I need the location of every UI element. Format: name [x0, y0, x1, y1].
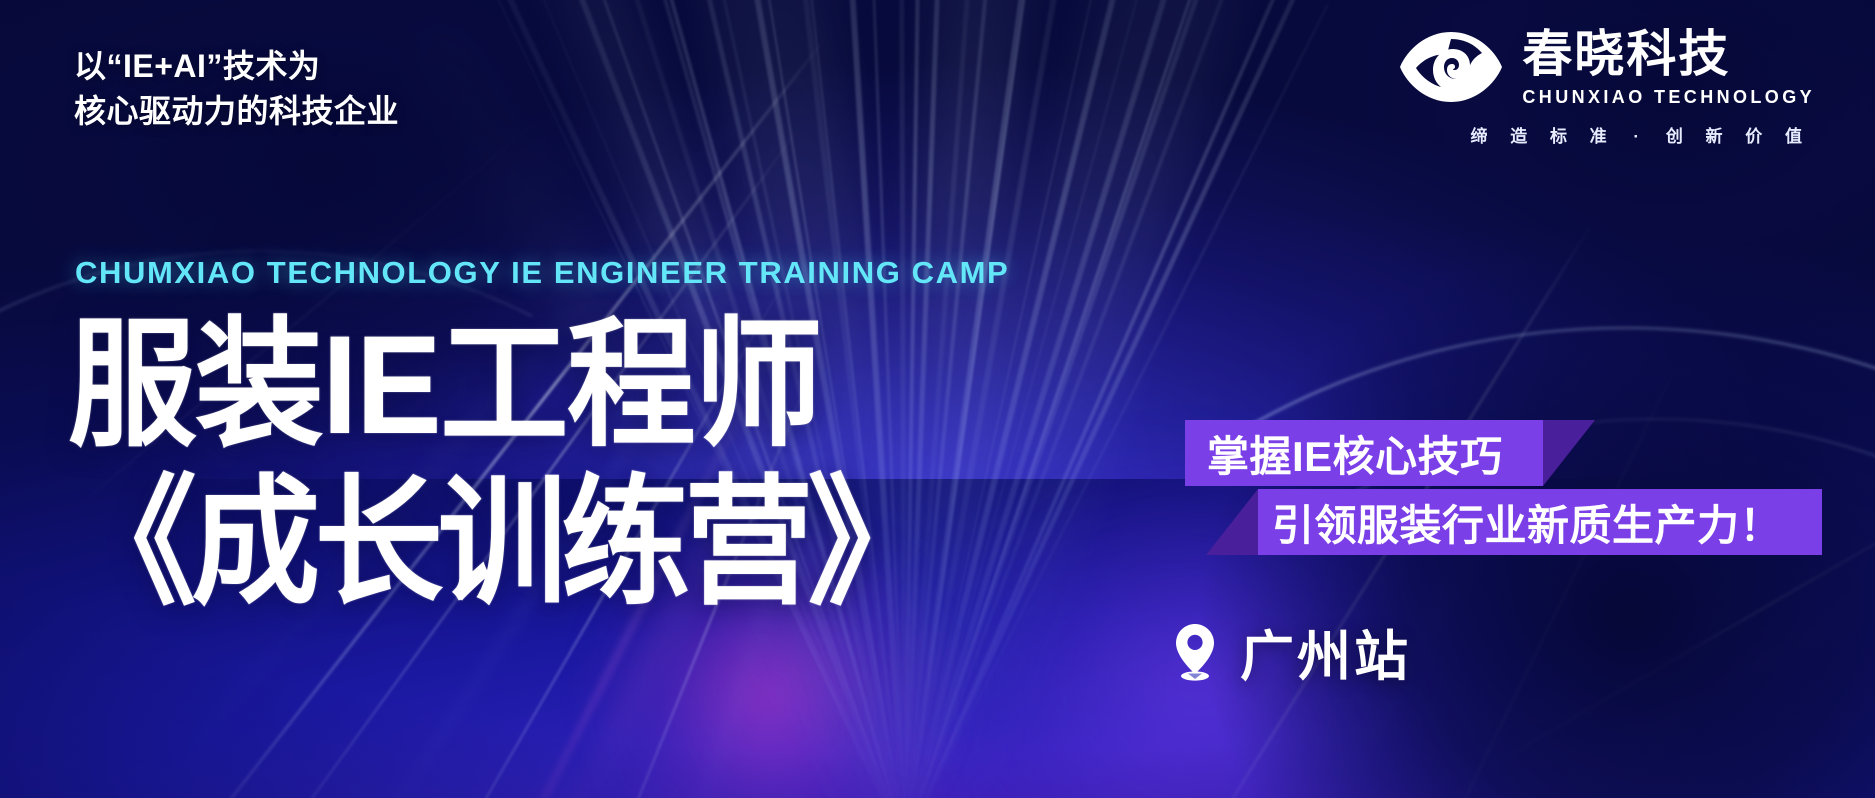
- headline-line-1: 服装IE工程师: [68, 318, 931, 452]
- logo-name-en: CHUNXIAO TECHNOLOGY: [1522, 88, 1815, 106]
- tagline: 以“IE+AI”技术为 核心驱动力的科技企业: [74, 44, 399, 135]
- callout-1-tail: [1543, 420, 1595, 486]
- tagline-line-2: 核心驱动力的科技企业: [74, 89, 399, 134]
- headline-line-2: 《成长训练营》: [68, 476, 931, 610]
- brand-logo: 春晓科技 CHUNXIAO TECHNOLOGY 缔 造 标 准 · 创 新 价…: [1398, 28, 1815, 147]
- tagline-line-1: 以“IE+AI”技术为: [74, 44, 399, 89]
- logo-slogan: 缔 造 标 准 · 创 新 价 值: [1398, 122, 1815, 147]
- location-row: 广州站: [1172, 612, 1411, 691]
- promo-banner: 以“IE+AI”技术为 核心驱动力的科技企业 春晓科技 CHUNXIAO TEC…: [0, 0, 1875, 798]
- chunxiao-eye-swirl-logo-icon: [1398, 28, 1504, 106]
- subtitle-english: CHUMXIAO TECHNOLOGY IE ENGINEER TRAINING…: [75, 255, 1009, 291]
- callout-box-2: 引领服装行业新质生产力！: [1258, 489, 1822, 555]
- map-pin-icon: [1172, 623, 1218, 681]
- location-label: 广州站: [1240, 612, 1411, 691]
- logo-slogan-dot: ·: [1629, 127, 1652, 146]
- callout-box-1: 掌握IE核心技巧: [1185, 420, 1543, 486]
- logo-name-cn: 春晓科技: [1522, 29, 1730, 79]
- headline: 服装IE工程师 《成长训练营》: [68, 318, 1006, 611]
- callout-1-text: 掌握IE核心技巧: [1207, 423, 1503, 484]
- callout-2-tail: [1206, 489, 1258, 555]
- logo-slogan-left: 缔 造 标 准: [1471, 127, 1616, 146]
- logo-slogan-right: 创 新 价 值: [1666, 127, 1811, 146]
- callout-2-text: 引领服装行业新质生产力！: [1272, 492, 1782, 553]
